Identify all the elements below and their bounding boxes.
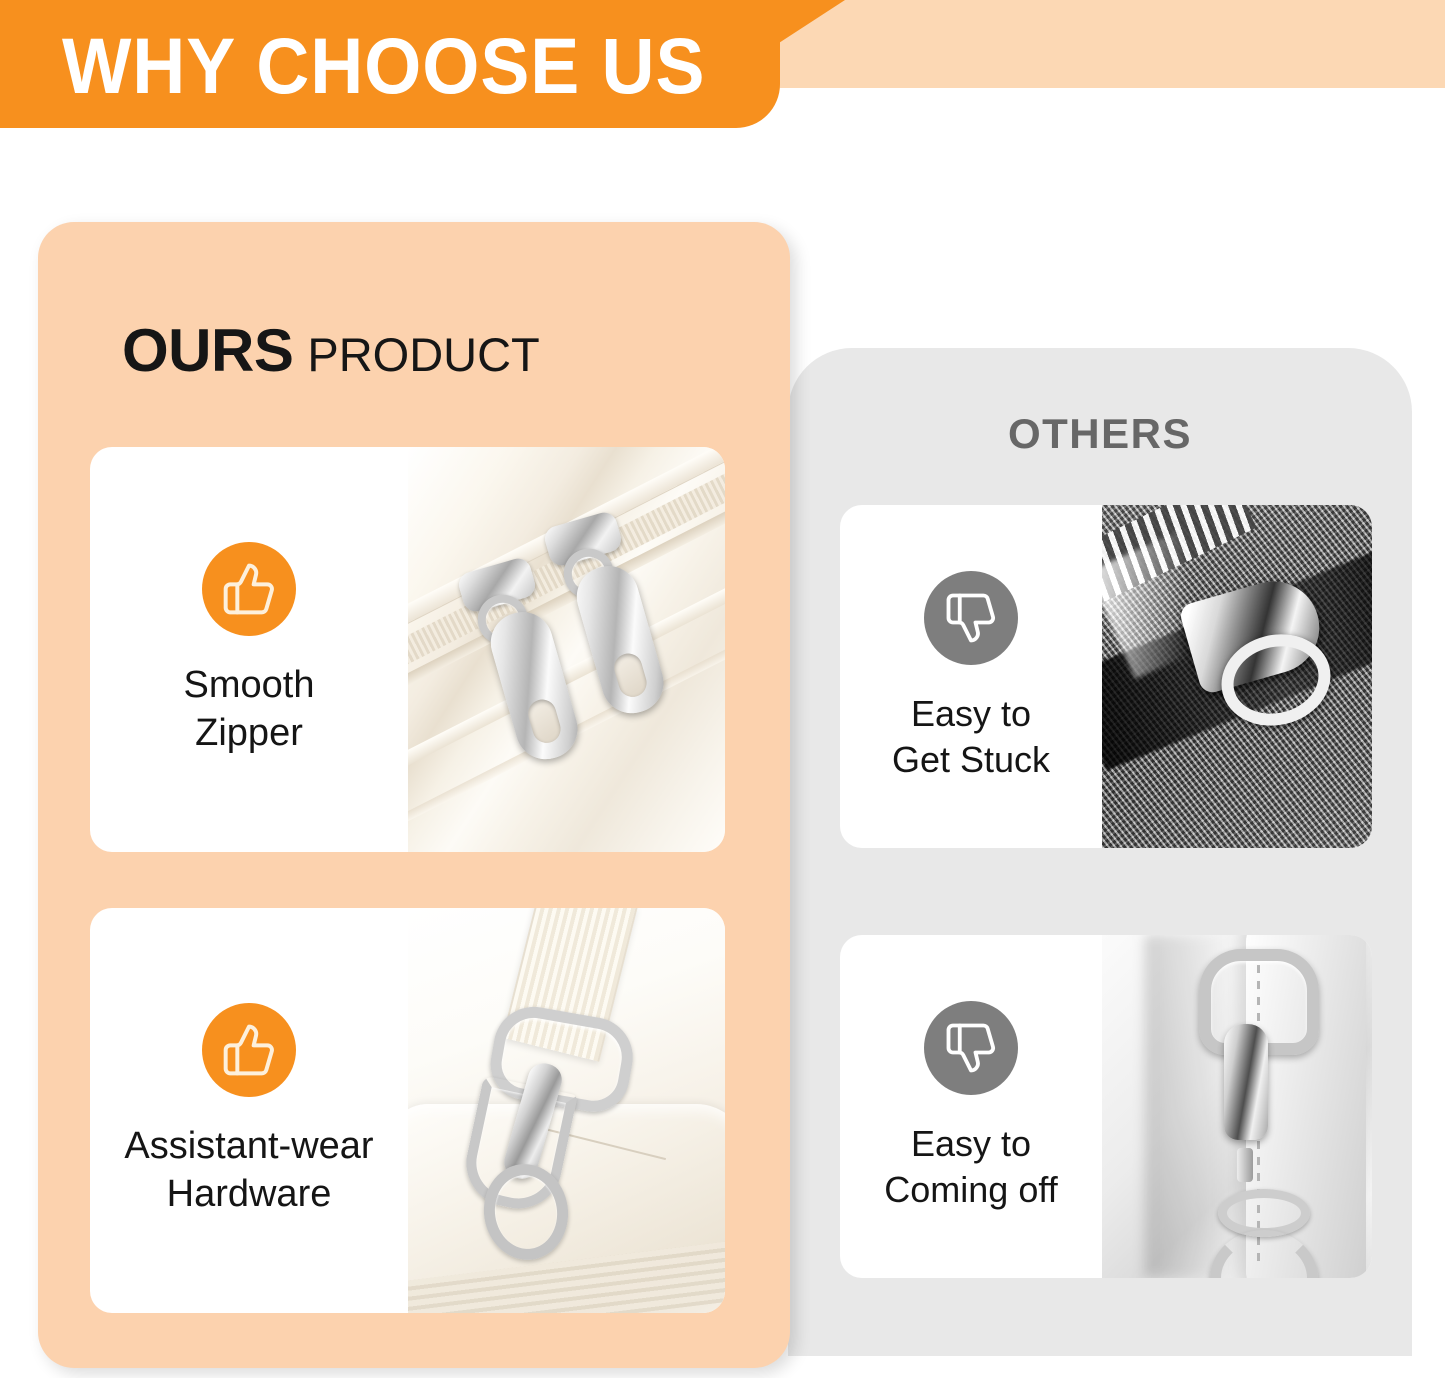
thumbs-down-icon	[924, 571, 1018, 665]
card-text-column: Easy to Get Stuck	[840, 505, 1102, 848]
thumbs-up-icon	[202, 1003, 296, 1097]
photo-strap-hardware	[408, 908, 725, 1313]
others-panel: OTHERS Easy to Get Stuck	[788, 348, 1412, 1356]
ours-card-smooth-zipper: Smooth Zipper	[90, 447, 725, 852]
ours-heading-bold: OURS	[122, 317, 293, 384]
photo-stuck-zipper	[1102, 505, 1372, 848]
others-card-coming-off: Easy to Coming off	[840, 935, 1372, 1278]
card-label: Easy to Get Stuck	[886, 691, 1056, 782]
swivel-clasp-body	[1224, 1024, 1268, 1140]
card-label: Assistant-wear Hardware	[118, 1123, 379, 1219]
clasp-stem	[1237, 1148, 1253, 1182]
card-label: Smooth Zipper	[178, 662, 321, 758]
thumbs-down-icon	[924, 1001, 1018, 1095]
ours-card-assistant-wear-hardware: Assistant-wear Hardware	[90, 908, 725, 1313]
thumbs-up-icon	[202, 542, 296, 636]
ours-heading: OURSPRODUCT	[122, 316, 540, 385]
photo-smooth-zipper	[408, 447, 725, 852]
page-title: WHY CHOOSE US	[62, 22, 705, 110]
card-text-column: Easy to Coming off	[840, 935, 1102, 1278]
card-text-column: Smooth Zipper	[90, 447, 408, 852]
card-label: Easy to Coming off	[878, 1121, 1063, 1212]
others-heading: OTHERS	[788, 410, 1412, 458]
photo-clasp-coming-off	[1102, 935, 1372, 1278]
zipper-pull-lower	[456, 556, 538, 615]
others-card-get-stuck: Easy to Get Stuck	[840, 505, 1372, 848]
ours-heading-regular: PRODUCT	[307, 328, 539, 381]
card-text-column: Assistant-wear Hardware	[90, 908, 408, 1313]
zipper-tab	[484, 605, 585, 766]
zipper-tab	[570, 559, 671, 720]
